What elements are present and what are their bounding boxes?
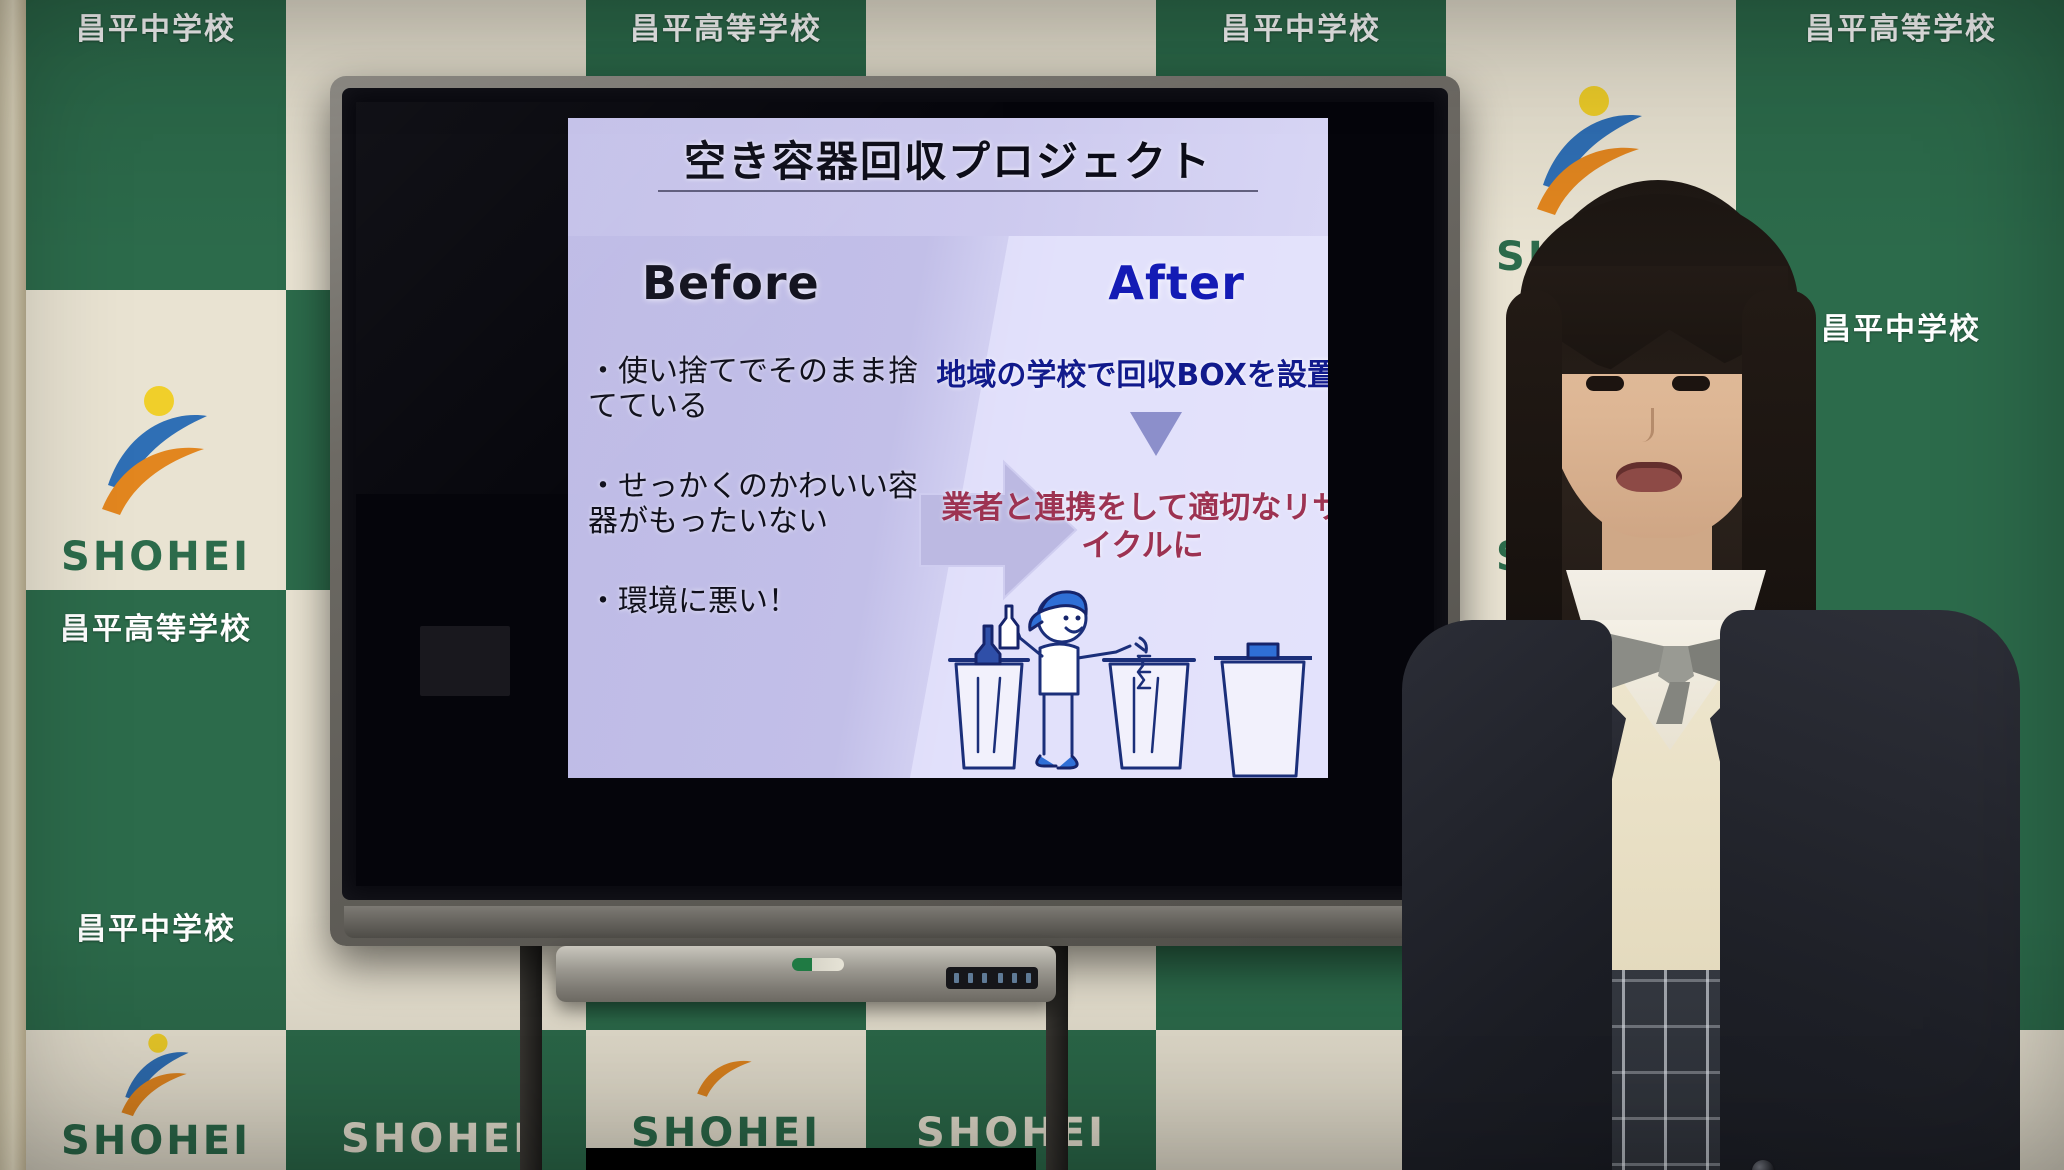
slide-title: 空き容器回収プロジェクト — [568, 128, 1328, 189]
shohei-swoosh-logo-icon — [686, 1020, 766, 1100]
power-indicator-led — [792, 958, 844, 971]
after-step-two-text: 業者と連携をして適切なリサイクルに — [932, 490, 1328, 566]
presenter-figure — [1390, 180, 2064, 1170]
backdrop-tile: SHOHEI — [26, 1030, 286, 1170]
display-chin-rail — [344, 906, 1446, 938]
wall-edge — [0, 0, 26, 1170]
shohei-swoosh-logo-icon — [108, 1024, 204, 1120]
backdrop-wordmark: SHOHEI — [61, 1118, 251, 1164]
list-item: ・使い捨てでそのまま捨てている — [588, 354, 918, 425]
title-divider — [658, 190, 1258, 192]
display-bezel: 空き容器回収プロジェクト Before ・使い捨てでそのまま捨てている ・せっか… — [342, 88, 1448, 900]
stand-foot-shadow — [586, 1148, 1036, 1170]
presentation-display[interactable]: 空き容器回収プロジェクト Before ・使い捨てでそのまま捨てている ・せっか… — [330, 76, 1460, 946]
list-item: ・せっかくのかわいい容器がもったいない — [588, 469, 918, 540]
display-screen[interactable]: 空き容器回収プロジェクト Before ・使い捨てでそのまま捨てている ・せっか… — [356, 102, 1434, 886]
before-heading: Before — [642, 256, 820, 310]
screenshot-root: 昌平中学校 SHOHEI 昌平高等学校 SHOHEI 昌平中学校 SHOHE — [0, 0, 2064, 1170]
triangle-down-icon — [1130, 412, 1182, 456]
list-item: ・環境に悪い！ — [588, 584, 918, 619]
backdrop-school-label: 昌平高等学校 — [60, 604, 252, 648]
presenter-jacket-right — [1720, 610, 2020, 1170]
backdrop-tile: 昌平高等学校 — [26, 590, 286, 890]
display-stand-left — [520, 946, 542, 1170]
backdrop-tile: 昌平中学校 — [26, 890, 286, 1030]
before-bullet-list: ・使い捨てでそのまま捨てている ・せっかくのかわいい容器がもったいない ・環境に… — [588, 354, 918, 663]
presenter-eye — [1672, 376, 1710, 391]
recycling-bin-icon — [1208, 628, 1318, 778]
backdrop-school-label: 昌平中学校 — [1221, 4, 1381, 48]
presenter-eye — [1586, 376, 1624, 391]
backdrop-school-label: 昌平高等学校 — [1805, 4, 1997, 48]
backdrop-wordmark: SHOHEI — [341, 1116, 531, 1162]
presenter-jacket-left — [1402, 620, 1612, 1170]
after-step-one-text: 地域の学校で回収BOXを設置 — [936, 350, 1328, 394]
backdrop-school-label: 昌平高等学校 — [630, 4, 822, 48]
sticky-note — [420, 626, 510, 696]
presenter-nose — [1638, 408, 1654, 442]
presenter-mouth — [1616, 462, 1682, 492]
backdrop-tile: 昌平中学校 — [26, 0, 286, 290]
shohei-swoosh-logo-icon — [81, 371, 231, 521]
display-control-buttons[interactable] — [946, 967, 1038, 989]
presentation-slide[interactable]: 空き容器回収プロジェクト Before ・使い捨てでそのまま捨てている ・せっか… — [568, 118, 1328, 778]
backdrop-tile: SHOHEI — [26, 290, 286, 590]
display-soundbar[interactable] — [556, 946, 1056, 1002]
after-heading: After — [1108, 256, 1245, 310]
backdrop-school-label: 昌平中学校 — [76, 4, 236, 48]
backdrop-school-label: 昌平中学校 — [76, 904, 236, 948]
backdrop-wordmark: SHOHEI — [61, 534, 251, 580]
person-sorting-waste-illustration — [944, 586, 1199, 776]
